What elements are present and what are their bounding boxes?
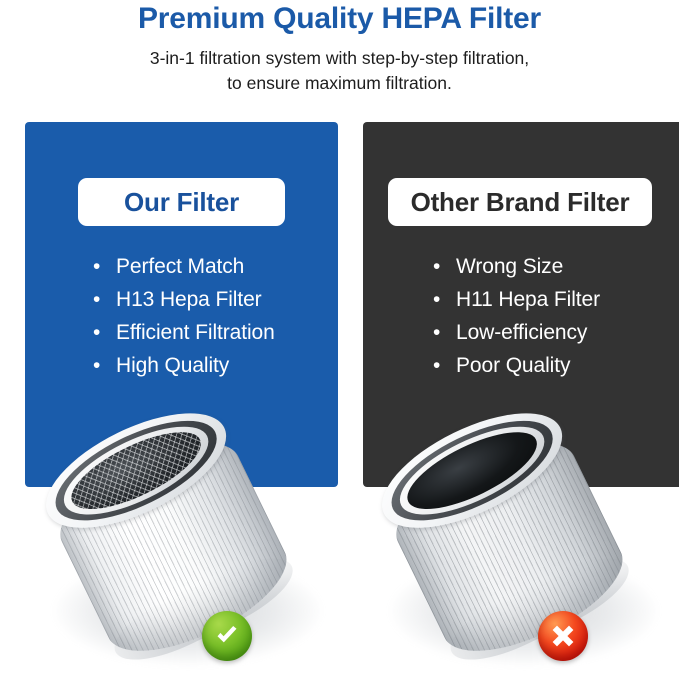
- page-subtitle: 3-in-1 filtration system with step-by-st…: [0, 46, 679, 96]
- our-filter-label: Our Filter: [124, 187, 239, 218]
- list-item: • H13 Hepa Filter: [93, 288, 275, 321]
- feature-label: Efficient Filtration: [116, 321, 275, 345]
- product-comparison-infographic: Premium Quality HEPA Filter 3-in-1 filtr…: [0, 0, 679, 679]
- bullet-icon: •: [433, 322, 456, 343]
- list-item: • H11 Hepa Filter: [433, 288, 600, 321]
- page-subtitle-line-1: 3-in-1 filtration system with step-by-st…: [0, 46, 679, 71]
- feature-label: H11 Hepa Filter: [456, 288, 600, 312]
- bullet-icon: •: [93, 322, 116, 343]
- other-brand-label-chip: Other Brand Filter: [388, 178, 652, 226]
- our-filter-product-image: [42, 388, 332, 678]
- bullet-icon: •: [433, 289, 456, 310]
- feature-label: Wrong Size: [456, 255, 563, 279]
- feature-label: Low-efficiency: [456, 321, 587, 345]
- bullet-icon: •: [433, 355, 456, 376]
- feature-label: H13 Hepa Filter: [116, 288, 262, 312]
- bullet-icon: •: [93, 289, 116, 310]
- rejected-badge: [538, 611, 588, 661]
- approved-badge: [202, 611, 252, 661]
- page-subtitle-line-2: to ensure maximum filtration.: [0, 71, 679, 96]
- our-filter-label-chip: Our Filter: [78, 178, 285, 226]
- bullet-icon: •: [93, 355, 116, 376]
- bullet-icon: •: [433, 256, 456, 277]
- other-brand-product-image: [378, 388, 668, 678]
- list-item: • Wrong Size: [433, 255, 600, 288]
- other-brand-label: Other Brand Filter: [411, 187, 630, 218]
- check-icon: [212, 621, 242, 651]
- page-title: Premium Quality HEPA Filter: [0, 2, 679, 36]
- list-item: • Low-efficiency: [433, 321, 600, 354]
- bullet-icon: •: [93, 256, 116, 277]
- cross-icon: [549, 622, 577, 650]
- list-item: • Efficient Filtration: [93, 321, 275, 354]
- list-item: • Perfect Match: [93, 255, 275, 288]
- feature-label: Perfect Match: [116, 255, 244, 279]
